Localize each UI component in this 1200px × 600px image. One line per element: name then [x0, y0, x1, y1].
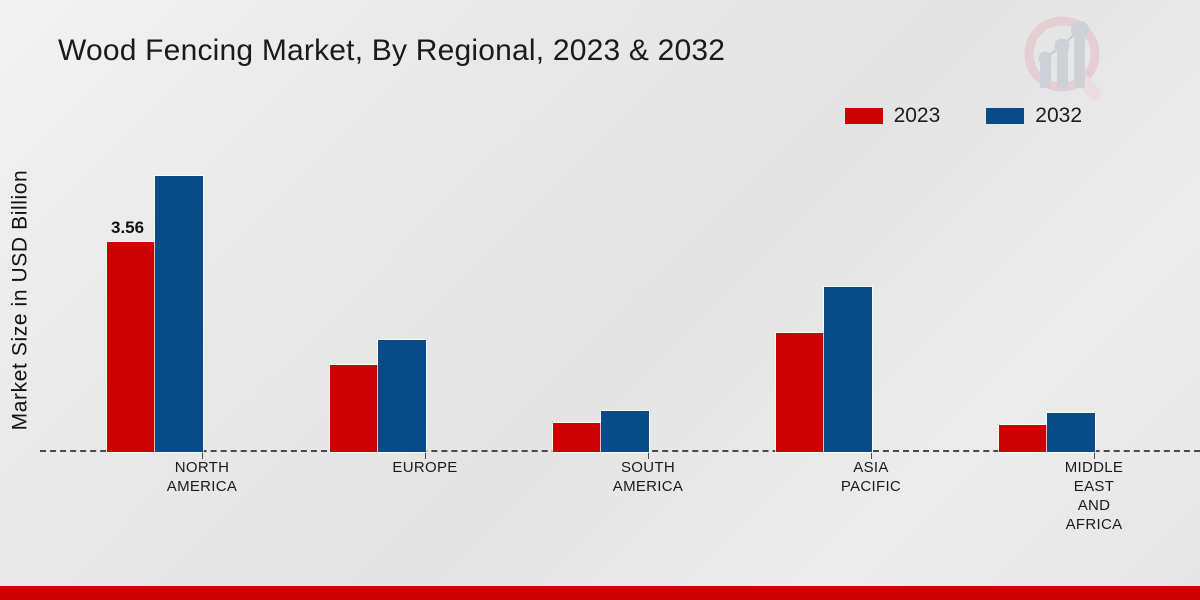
bar-value-label: 3.56 — [111, 218, 144, 238]
magnifier-bar-chart-logo-icon — [1014, 8, 1122, 112]
bar-pair — [999, 413, 1095, 452]
legend-label-2032: 2032 — [1035, 104, 1082, 128]
bar-2023[interactable] — [999, 425, 1047, 452]
bar-2023[interactable] — [107, 242, 155, 452]
bar-pair — [776, 287, 872, 452]
legend-label-2023: 2023 — [894, 104, 941, 128]
y-axis-title: Market Size in USD Billion — [0, 0, 40, 600]
chart-legend: 2023 2032 — [845, 104, 1082, 128]
legend-item-2032[interactable]: 2032 — [986, 104, 1082, 128]
category-label: EUROPE — [330, 458, 520, 477]
category-label: NORTHAMERICA — [107, 458, 297, 496]
page-title: Wood Fencing Market, By Regional, 2023 &… — [58, 34, 725, 68]
bar-2023[interactable] — [330, 365, 378, 452]
blue-square-swatch-icon — [986, 108, 1024, 124]
bar-2023[interactable] — [553, 423, 601, 452]
bar-2032[interactable] — [601, 411, 649, 452]
y-axis-title-text: Market Size in USD Billion — [8, 170, 32, 431]
bar-2032[interactable] — [378, 340, 426, 452]
bar-2032[interactable] — [824, 287, 872, 452]
category-label: ASIAPACIFIC — [776, 458, 966, 496]
category-label: MIDDLEEASTANDAFRICA — [999, 458, 1189, 534]
category-label: SOUTHAMERICA — [553, 458, 743, 496]
footer-accent-bar — [0, 586, 1200, 600]
bar-pair — [330, 340, 426, 452]
plot-area: NORTHAMERICA 3.56 EUROPE SOUTHAMERICA AS… — [40, 140, 1200, 452]
bar-2023[interactable] — [776, 333, 824, 452]
bar-2032[interactable] — [1047, 413, 1095, 452]
bar-pair — [553, 411, 649, 452]
legend-item-2023[interactable]: 2023 — [845, 104, 941, 128]
bar-2032[interactable] — [155, 176, 203, 452]
chart-infographic: Wood Fencing Market, By Regional, 2023 &… — [0, 0, 1200, 600]
red-square-swatch-icon — [845, 108, 883, 124]
